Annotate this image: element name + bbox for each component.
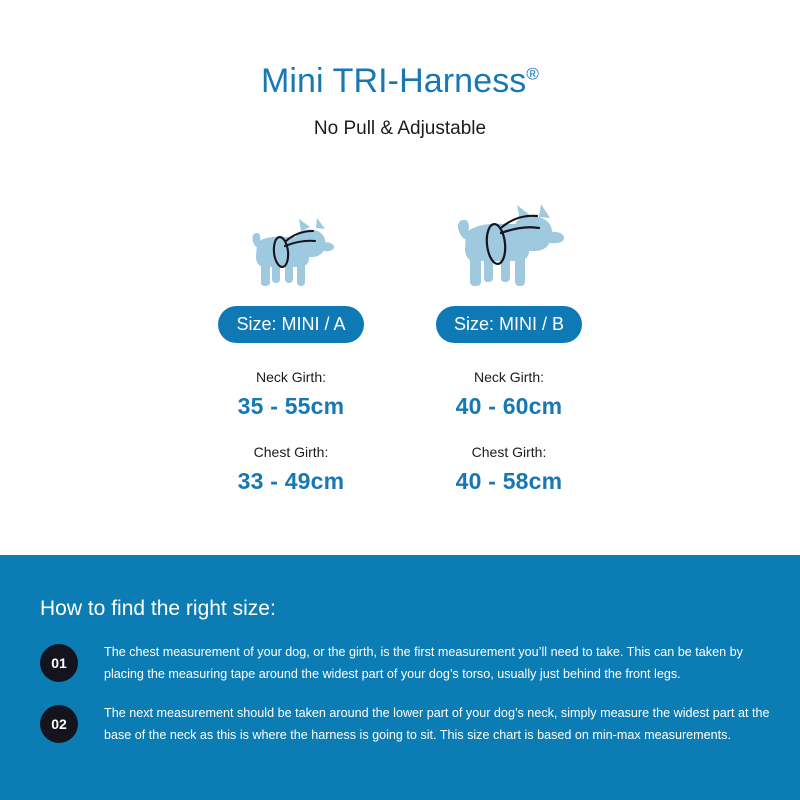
page-title: Mini TRI-Harness® <box>0 62 800 101</box>
size-options: Size: MINI / A Neck Girth: 35 - 55cm Che… <box>0 198 800 495</box>
neck-girth-value-a: 35 - 55cm <box>238 393 345 420</box>
how-to-panel-title: How to find the right size: <box>40 597 276 621</box>
step-number-badge: 01 <box>40 644 78 682</box>
size-option-mini-a: Size: MINI / A Neck Girth: 35 - 55cm Che… <box>182 198 400 495</box>
large-dog-with-harness-icon <box>449 199 569 294</box>
chest-girth-value-b: 40 - 58cm <box>456 468 563 495</box>
size-option-mini-b: Size: MINI / B Neck Girth: 40 - 60cm Che… <box>400 198 618 495</box>
chest-girth-label-a: Chest Girth: <box>254 444 329 460</box>
registered-trademark-icon: ® <box>526 65 539 84</box>
chest-girth-value-a: 33 - 49cm <box>238 468 345 495</box>
header: Mini TRI-Harness® No Pull & Adjustable <box>0 0 800 140</box>
neck-girth-label-b: Neck Girth: <box>474 369 544 385</box>
how-to-step: 01 The chest measurement of your dog, or… <box>40 642 770 685</box>
chest-girth-label-b: Chest Girth: <box>472 444 547 460</box>
neck-girth-label-a: Neck Girth: <box>256 369 326 385</box>
page-title-text: Mini TRI-Harness <box>261 62 526 100</box>
size-badge-mini-a[interactable]: Size: MINI / A <box>218 306 364 343</box>
how-to-steps-list: 01 The chest measurement of your dog, or… <box>40 642 770 765</box>
step-number-badge: 02 <box>40 705 78 743</box>
neck-girth-value-b: 40 - 60cm <box>456 393 563 420</box>
step-text: The next measurement should be taken aro… <box>104 703 770 746</box>
step-text: The chest measurement of your dog, or th… <box>104 642 770 685</box>
small-dog-illustration <box>241 198 341 294</box>
large-dog-illustration <box>449 198 569 294</box>
small-dog-with-harness-icon <box>241 212 341 294</box>
page-subtitle: No Pull & Adjustable <box>0 118 800 140</box>
size-badge-mini-b[interactable]: Size: MINI / B <box>436 306 582 343</box>
how-to-step: 02 The next measurement should be taken … <box>40 703 770 746</box>
how-to-panel: How to find the right size: 01 The chest… <box>0 555 800 800</box>
size-chart-page: Mini TRI-Harness® No Pull & Adjustable <box>0 0 800 800</box>
